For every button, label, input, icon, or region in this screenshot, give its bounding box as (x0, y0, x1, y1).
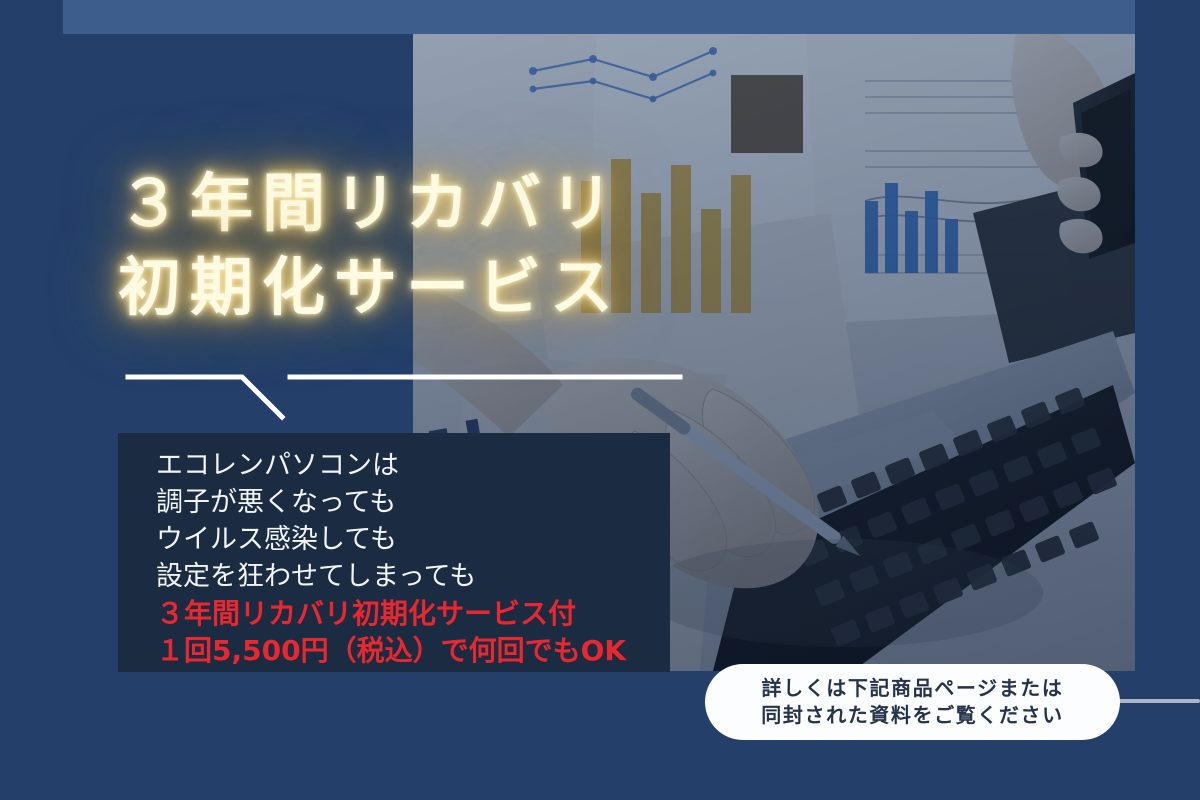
top-accent-bar (63, 0, 1135, 34)
headline-line-2: 初期化サービス (118, 246, 858, 330)
benefit-line-4: 設定を狂わせてしまっても (156, 558, 670, 595)
benefit-line-5-highlight: ３年間リカバリ初期化サービス付 (156, 595, 670, 632)
benefit-line-2: 調子が悪くなっても (156, 484, 670, 521)
promo-banner: ３年間リカバリ 初期化サービス エコレンパソコンは 調子が悪くなっても ウイルス… (0, 0, 1200, 800)
callout-pill[interactable]: 詳しくは下記商品ページまたは 同封された資料をご覧ください (705, 664, 1120, 740)
headline-line-1: ３年間リカバリ (118, 162, 858, 246)
benefit-line-3: ウイルス感染しても (156, 521, 670, 558)
callout-line-2: 同封された資料をご覧ください (761, 702, 1063, 729)
page-title: ３年間リカバリ 初期化サービス (118, 162, 858, 330)
benefits-textbox: エコレンパソコンは 調子が悪くなっても ウイルス感染しても 設定を狂わせてしまっ… (118, 433, 670, 672)
benefit-line-6-price: １回5,500円（税込）で何回でもOK (156, 632, 670, 669)
divider-arrow-decoration (110, 350, 710, 440)
callout-line-1: 詳しくは下記商品ページまたは (762, 675, 1064, 702)
right-navy-band (1135, 0, 1200, 800)
benefit-line-1: エコレンパソコンは (156, 447, 670, 484)
